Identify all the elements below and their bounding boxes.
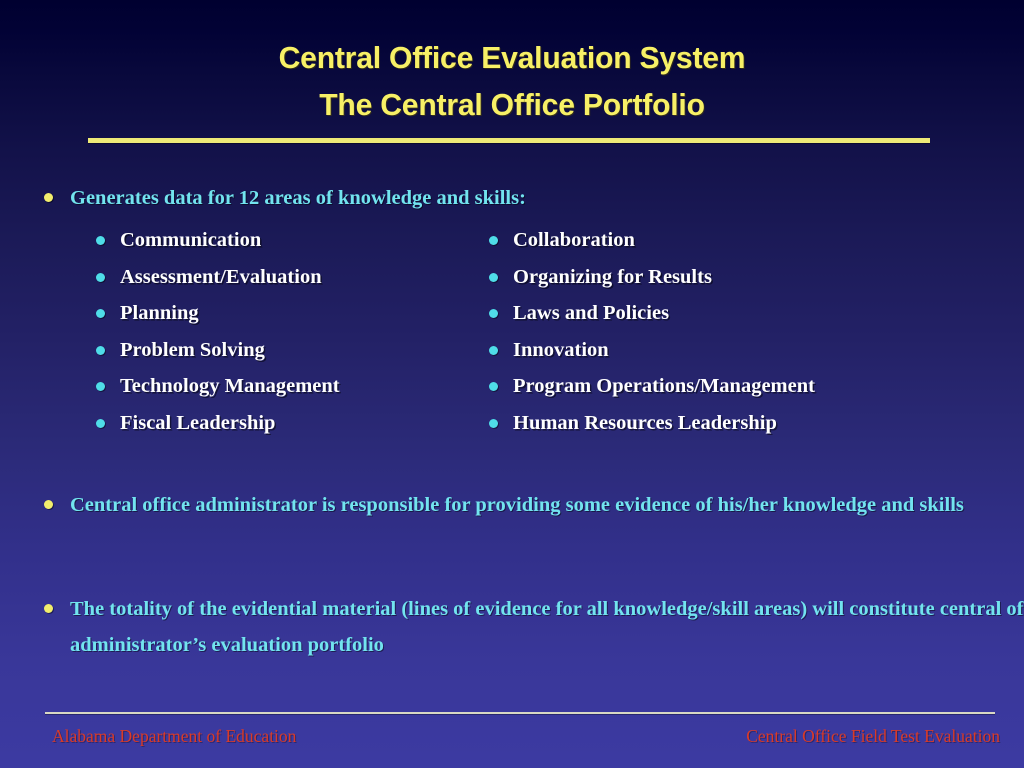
list-item-label: Technology Management — [120, 375, 340, 397]
list-item: Program Operations/Management — [485, 368, 1005, 405]
paragraph-bullet-item: Central office administrator is responsi… — [0, 487, 1024, 523]
footer-organization-label: Alabama Department of Education — [52, 726, 296, 747]
list-item: Technology Management — [92, 368, 492, 405]
list-item: Collaboration — [485, 222, 1005, 259]
list-item: Innovation — [485, 332, 1005, 369]
list-item-label: Fiscal Leadership — [120, 412, 275, 434]
title-line-2: The Central Office Portfolio — [15, 81, 1008, 128]
list-item-label: Collaboration — [513, 229, 635, 251]
list-item: Communication — [92, 222, 492, 259]
bullet-dot-icon — [489, 382, 498, 391]
list-item: Laws and Policies — [485, 295, 1005, 332]
bullet-dot-icon — [489, 419, 498, 428]
list-item-label: Human Resources Leadership — [513, 412, 777, 434]
knowledge-areas-left-column: Communication Assessment/Evaluation Plan… — [92, 222, 492, 441]
footer-project-label: Central Office Field Test Evaluation — [746, 726, 1000, 747]
bullet-dot-icon — [96, 309, 105, 318]
bullet-dot-icon — [489, 309, 498, 318]
bullet-dot-icon — [96, 346, 105, 355]
bullet-dot-icon — [96, 419, 105, 428]
bullet-dot-icon — [96, 236, 105, 245]
list-item-label: Problem Solving — [120, 339, 265, 361]
bullet-dot-icon — [489, 346, 498, 355]
presentation-slide: Central Office Evaluation System The Cen… — [0, 0, 1024, 768]
list-item-label: Assessment/Evaluation — [120, 266, 322, 288]
bullet-dot-icon — [44, 193, 53, 202]
paragraph-bullet-item: The totality of the evidential material … — [0, 591, 1024, 663]
list-item-label: Organizing for Results — [513, 266, 712, 288]
list-item-label: Program Operations/Management — [513, 375, 815, 397]
slide-body: Generates data for 12 areas of knowledge… — [0, 180, 1024, 442]
knowledge-areas-columns: Communication Assessment/Evaluation Plan… — [0, 222, 1024, 442]
title-divider-rule — [88, 138, 930, 143]
knowledge-areas-right-column: Collaboration Organizing for Results Law… — [485, 222, 1005, 441]
list-item: Problem Solving — [92, 332, 492, 369]
title-line-1: Central Office Evaluation System — [15, 34, 1008, 81]
paragraph-label: The totality of the evidential material … — [70, 598, 1024, 656]
list-item: Planning — [92, 295, 492, 332]
bullet-dot-icon — [44, 500, 53, 509]
list-item: Human Resources Leadership — [485, 405, 1005, 442]
bullet-dot-icon — [489, 236, 498, 245]
list-item-label: Innovation — [513, 339, 609, 361]
slide-title: Central Office Evaluation System The Cen… — [0, 34, 1024, 128]
bullet-dot-icon — [96, 273, 105, 282]
list-item: Fiscal Leadership — [92, 405, 492, 442]
bullet-dot-icon — [96, 382, 105, 391]
lead-bullet-label: Generates data for 12 areas of knowledge… — [70, 187, 526, 209]
slide-footer: Alabama Department of Education Central … — [0, 726, 1024, 756]
list-item-label: Laws and Policies — [513, 302, 669, 324]
footer-divider-rule — [45, 712, 995, 714]
list-item: Assessment/Evaluation — [92, 259, 492, 296]
paragraph-label: Central office administrator is responsi… — [70, 494, 964, 516]
list-item-label: Communication — [120, 229, 261, 251]
list-item-label: Planning — [120, 302, 199, 324]
list-item: Organizing for Results — [485, 259, 1005, 296]
lead-bullet-item: Generates data for 12 areas of knowledge… — [0, 180, 1024, 216]
bullet-dot-icon — [489, 273, 498, 282]
bullet-dot-icon — [44, 604, 53, 613]
